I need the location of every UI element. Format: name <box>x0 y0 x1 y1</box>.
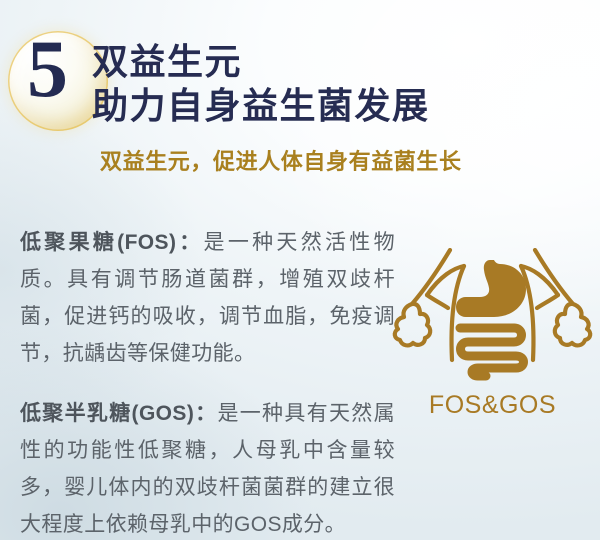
poster-subtitle: 双益生元，促进人体自身有益菌生长 <box>100 148 462 176</box>
title-block: 双益生元 助力自身益生菌发展 <box>92 40 592 128</box>
paragraph-fos-lead: 低聚果糖(FOS)： <box>20 231 204 254</box>
title-line-1: 双益生元 <box>92 40 592 84</box>
torso-digestive-icon <box>390 248 595 398</box>
paragraph-fos: 低聚果糖(FOS)：是一种天然活性物质。具有调节肠道菌群，增殖双歧杆菌，促进钙的… <box>20 224 395 372</box>
poster-header: 5 双益生元 助力自身益生菌发展 双益生元，促进人体自身有益菌生长 <box>0 0 600 190</box>
intestine-shape <box>460 328 524 376</box>
paragraph-gos-lead: 低聚半乳糖(GOS)： <box>20 402 217 425</box>
stomach-shape <box>456 260 526 317</box>
illustration-caption: FOS&GOS <box>390 391 595 420</box>
content-copy: 低聚果糖(FOS)：是一种天然活性物质。具有调节肠道菌群，增殖双歧杆菌，促进钙的… <box>20 203 395 540</box>
paragraph-gos: 低聚半乳糖(GOS)：是一种具有天然属性的功能性低聚糖，人母乳中含量较多，婴儿体… <box>20 395 395 540</box>
poster-canvas: 5 双益生元 助力自身益生菌发展 双益生元，促进人体自身有益菌生长 低聚果糖(F… <box>0 0 600 540</box>
digestive-system-illustration: FOS&GOS <box>390 248 595 438</box>
step-number: 5 <box>27 28 67 110</box>
title-line-2: 助力自身益生菌发展 <box>92 84 592 128</box>
